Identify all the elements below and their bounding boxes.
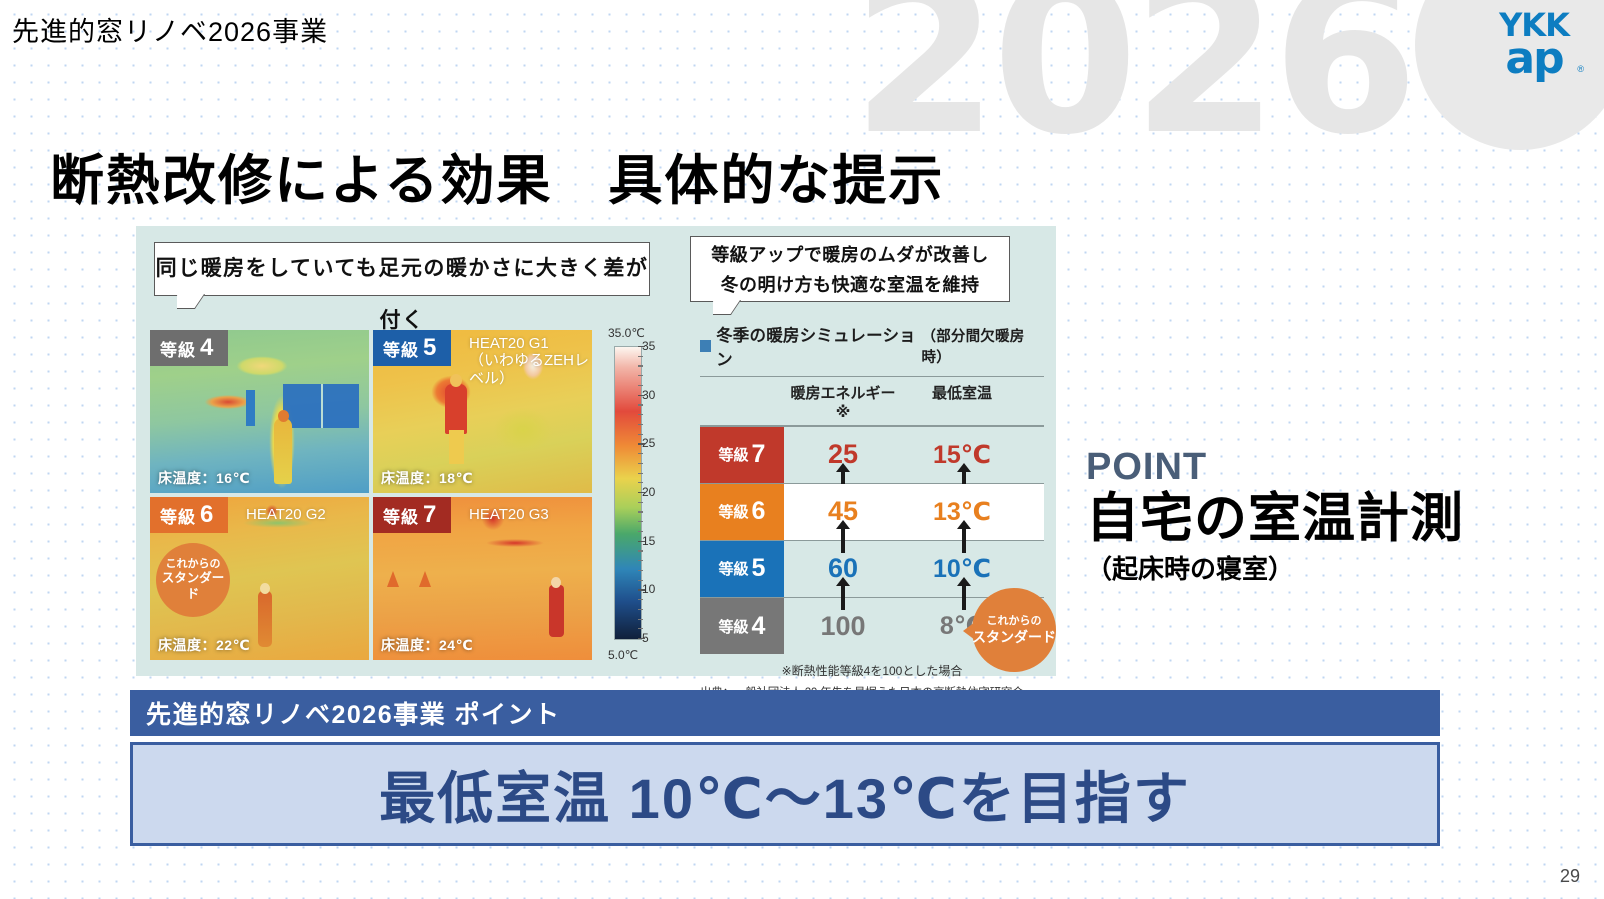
point-block: POINT 自宅の室温計測 （起床時の寝室） (1086, 448, 1464, 586)
scale-minor-tick (638, 521, 643, 522)
scale-minor-tick (638, 628, 643, 629)
heat20-label-6: HEAT20 G2 (246, 506, 326, 523)
grade-badge-label-6: 等級 (160, 503, 196, 528)
person-shape (549, 585, 564, 637)
standard-badge-line2: スタンダード (156, 571, 230, 602)
callout-right: 等級アップで暖房のムダが改善し 冬の明け方も快適な室温を維持 (690, 236, 1010, 302)
logo-registered-icon: ® (1577, 66, 1584, 74)
chart-title-sub: （部分間欠暖房時） (922, 325, 1045, 367)
person-shape (258, 591, 272, 647)
person-shape (445, 384, 467, 434)
temperature-color-scale: 35.0℃ 3530252015105 5.0℃ (608, 326, 684, 662)
scale-minor-tick (638, 404, 643, 405)
standard-badge-pointer (963, 622, 975, 640)
lamp-shape (419, 571, 431, 587)
scale-minor-tick (638, 511, 643, 512)
heating-simulation-chart: 冬季の暖房シミュレーション （部分間欠暖房時） 暖房エネルギー※ 最低室温 等級… (700, 322, 1044, 668)
callout-left-tail (177, 294, 211, 312)
chart-grade-label-5: 等級 (719, 558, 749, 579)
door-shape (246, 390, 255, 426)
scale-tick-15: 15 (642, 534, 655, 548)
page-title: 断熱改修による効果 具体的な提示 (50, 136, 944, 215)
chart-row-grade6: 等級 6 45 13℃ これからの スタンダード (700, 484, 1044, 540)
scale-minor-tick (638, 356, 643, 357)
scale-minor-tick (638, 385, 643, 386)
scale-tick-35: 35 (642, 339, 655, 353)
scale-tick-30: 30 (642, 388, 655, 402)
scale-minor-tick (638, 482, 643, 483)
point-label: POINT (1086, 448, 1464, 486)
logo-ap-text: ap (1486, 40, 1582, 78)
callout-right-tail (713, 300, 747, 318)
floor-temp-6: 床温度：22℃ (158, 635, 250, 655)
chart-grade-number-7: 7 (752, 440, 766, 469)
scale-minor-tick (638, 502, 643, 503)
person-head-shape (450, 374, 462, 387)
person-head-shape (551, 577, 561, 588)
grade-badge-number-6: 6 (200, 501, 214, 529)
page-number: 29 (1560, 866, 1580, 887)
grade-badge-6: 等級 6 (150, 497, 228, 533)
thermal-image-grid: 等級 4 床温度：16℃ 等級 5 HEAT20 G1 （いわゆるZEHレベル）… (150, 330, 592, 660)
standard-badge-line1: これからの (166, 558, 221, 572)
scale-minor-tick (638, 434, 643, 435)
heat20-label-5: HEAT20 G1 （いわゆるZEHレベル） (469, 335, 592, 387)
thermal-tile-grade4: 等級 4 床温度：16℃ (150, 330, 369, 493)
scale-tick-10: 10 (642, 582, 655, 596)
scale-tick-5: 5 (642, 631, 649, 645)
floor-temp-4: 床温度：16℃ (158, 468, 250, 488)
scale-tick-25: 25 (642, 436, 655, 450)
slide-title: 先進的窓リノベ2026事業 (12, 10, 328, 49)
scale-minor-tick (638, 531, 643, 532)
scale-minor-tick (638, 424, 643, 425)
standard-badge-chart-line2: スタンダード (972, 628, 1056, 646)
grade-badge-label-7: 等級 (383, 503, 419, 528)
point-headline: 自宅の室温計測 (1086, 490, 1464, 547)
person-shape (274, 418, 292, 484)
chart-row-grade5: 等級 5 60 10℃ (700, 541, 1044, 597)
chart-column-headers: 暖房エネルギー※ 最低室温 (700, 377, 1044, 425)
scale-minor-tick (638, 599, 643, 600)
callout-right-line1: 等級アップで暖房のムダが改善し (691, 240, 1009, 270)
standard-badge-chart-line1: これからの (987, 614, 1042, 628)
chart-colhead-energy: 暖房エネルギー※ (784, 382, 902, 421)
callout-left: 同じ暖房をしていても足元の暖かさに大きく差が付く (154, 242, 650, 296)
point-subtext: （起床時の寝室） (1086, 549, 1464, 586)
thermal-tile-grade5: 等級 5 HEAT20 G1 （いわゆるZEHレベル） 床温度：18℃ (373, 330, 592, 493)
chart-title: 冬季の暖房シミュレーション (716, 322, 916, 370)
grade-badge-5: 等級 5 (373, 330, 451, 366)
scale-tick-list: 3530252015105 (642, 346, 682, 638)
person-legs-shape (449, 430, 464, 464)
window-shape (283, 384, 359, 428)
scale-minor-tick (638, 414, 643, 415)
heat20-label-5-line2: （いわゆるZEHレベル） (469, 352, 592, 387)
banner-main: 最低室温 10℃〜13℃を目指す (130, 742, 1440, 846)
chart-grade-number-5: 5 (752, 554, 766, 583)
chart-row-grade7: 等級 7 25 15℃ (700, 427, 1044, 483)
chart-colhead-temp: 最低室温 (902, 382, 1022, 421)
scale-minor-tick (638, 580, 643, 581)
standard-badge-thermal: これからの スタンダード (156, 543, 230, 617)
chart-grade-badge-7: 等級 7 (700, 427, 784, 483)
scale-minor-tick (638, 453, 643, 454)
heat20-label-5-line1: HEAT20 G1 (469, 335, 592, 352)
scale-minor-tick (638, 365, 643, 366)
scale-minor-tick (638, 473, 643, 474)
grade-badge-7: 等級 7 (373, 497, 451, 533)
scale-minor-tick (638, 570, 643, 571)
floor-temp-5: 床温度：18℃ (381, 468, 473, 488)
person-head-shape (260, 583, 270, 594)
chart-grade-label-6: 等級 (719, 501, 749, 522)
content-panel: 同じ暖房をしていても足元の暖かさに大きく差が付く 等級アップで暖房のムダが改善し… (136, 226, 1056, 676)
thermal-tile-grade6: 等級 6 HEAT20 G2 これからの スタンダード 床温度：22℃ (150, 497, 369, 660)
grade-badge-number-7: 7 (423, 501, 437, 529)
scale-tick-20: 20 (642, 485, 655, 499)
legend-square-icon (700, 340, 711, 352)
grade-badge-number-5: 5 (423, 334, 437, 362)
chart-grade-number-4: 4 (752, 612, 766, 641)
callout-left-text: 同じ暖房をしていても足元の暖かさに大きく差が付く (156, 257, 649, 332)
scale-minor-tick (638, 619, 643, 620)
chart-grade-badge-4: 等級 4 (700, 598, 784, 654)
chart-energy-4: 100 (784, 611, 902, 642)
scale-min-label: 5.0℃ (608, 648, 638, 662)
person-head-shape (278, 410, 289, 422)
banner-heading: 先進的窓リノベ2026事業 ポイント (130, 690, 1440, 736)
lamp-shape (387, 571, 399, 587)
grade-badge-label-4: 等級 (160, 336, 196, 361)
chart-title-row: 冬季の暖房シミュレーション （部分間欠暖房時） (700, 322, 1044, 370)
scale-minor-tick (638, 375, 643, 376)
scale-minor-tick (638, 550, 643, 551)
chart-grade-badge-5: 等級 5 (700, 541, 784, 597)
chart-grade-label-7: 等級 (719, 444, 749, 465)
ykk-ap-logo: YKK ap ® (1486, 12, 1582, 77)
chart-grade-number-6: 6 (752, 497, 766, 526)
grade-badge-number-4: 4 (200, 334, 214, 362)
chart-colhead-spacer (700, 382, 784, 421)
grade-badge-4: 等級 4 (150, 330, 228, 366)
chart-grade-label-4: 等級 (719, 616, 749, 637)
callout-right-line2: 冬の明け方も快適な室温を維持 (691, 270, 1009, 300)
scale-minor-tick (638, 609, 643, 610)
scale-minor-tick (638, 463, 643, 464)
floor-temp-7: 床温度：24℃ (381, 635, 473, 655)
thermal-tile-grade7: 等級 7 HEAT20 G3 床温度：24℃ (373, 497, 592, 660)
grade-badge-label-5: 等級 (383, 336, 419, 361)
chart-grade-badge-6: 等級 6 (700, 484, 784, 540)
heat20-label-7: HEAT20 G3 (469, 506, 549, 523)
scale-max-label: 35.0℃ (608, 326, 645, 340)
banner-main-text: 最低室温 10℃〜13℃を目指す (379, 754, 1191, 835)
scale-minor-tick (638, 560, 643, 561)
standard-badge-chart: これからの スタンダード (972, 588, 1056, 672)
